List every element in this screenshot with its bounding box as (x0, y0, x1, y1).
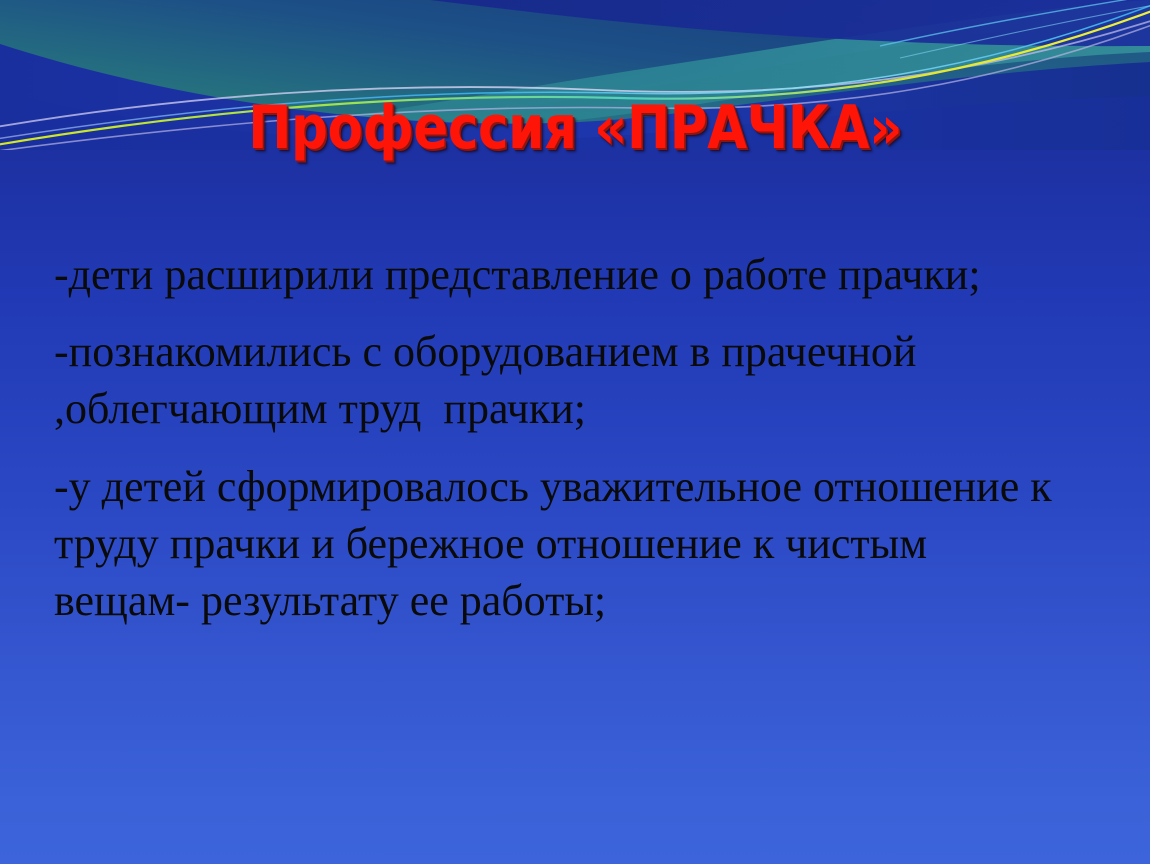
cyan-streak-right-b (900, 4, 1150, 58)
slide-title: Профессия «ПРАЧКА» (248, 98, 902, 159)
cyan-streak-right-a (880, 0, 1150, 46)
bullet-item-3: -у детей сформировалось уважительное отн… (54, 458, 1064, 630)
navy-wedge-top (430, 0, 1150, 46)
bullet-item-1: -дети расширили представление о работе п… (54, 246, 1064, 303)
presentation-slide: Профессия «ПРАЧКА» -дети расширили предс… (0, 0, 1150, 864)
slide-body: -дети расширили представление о работе п… (54, 246, 1064, 629)
bullet-item-2: -познакомились с оборудованием в прачечн… (54, 323, 1064, 437)
title-container: Профессия «ПРАЧКА» (0, 98, 1150, 159)
